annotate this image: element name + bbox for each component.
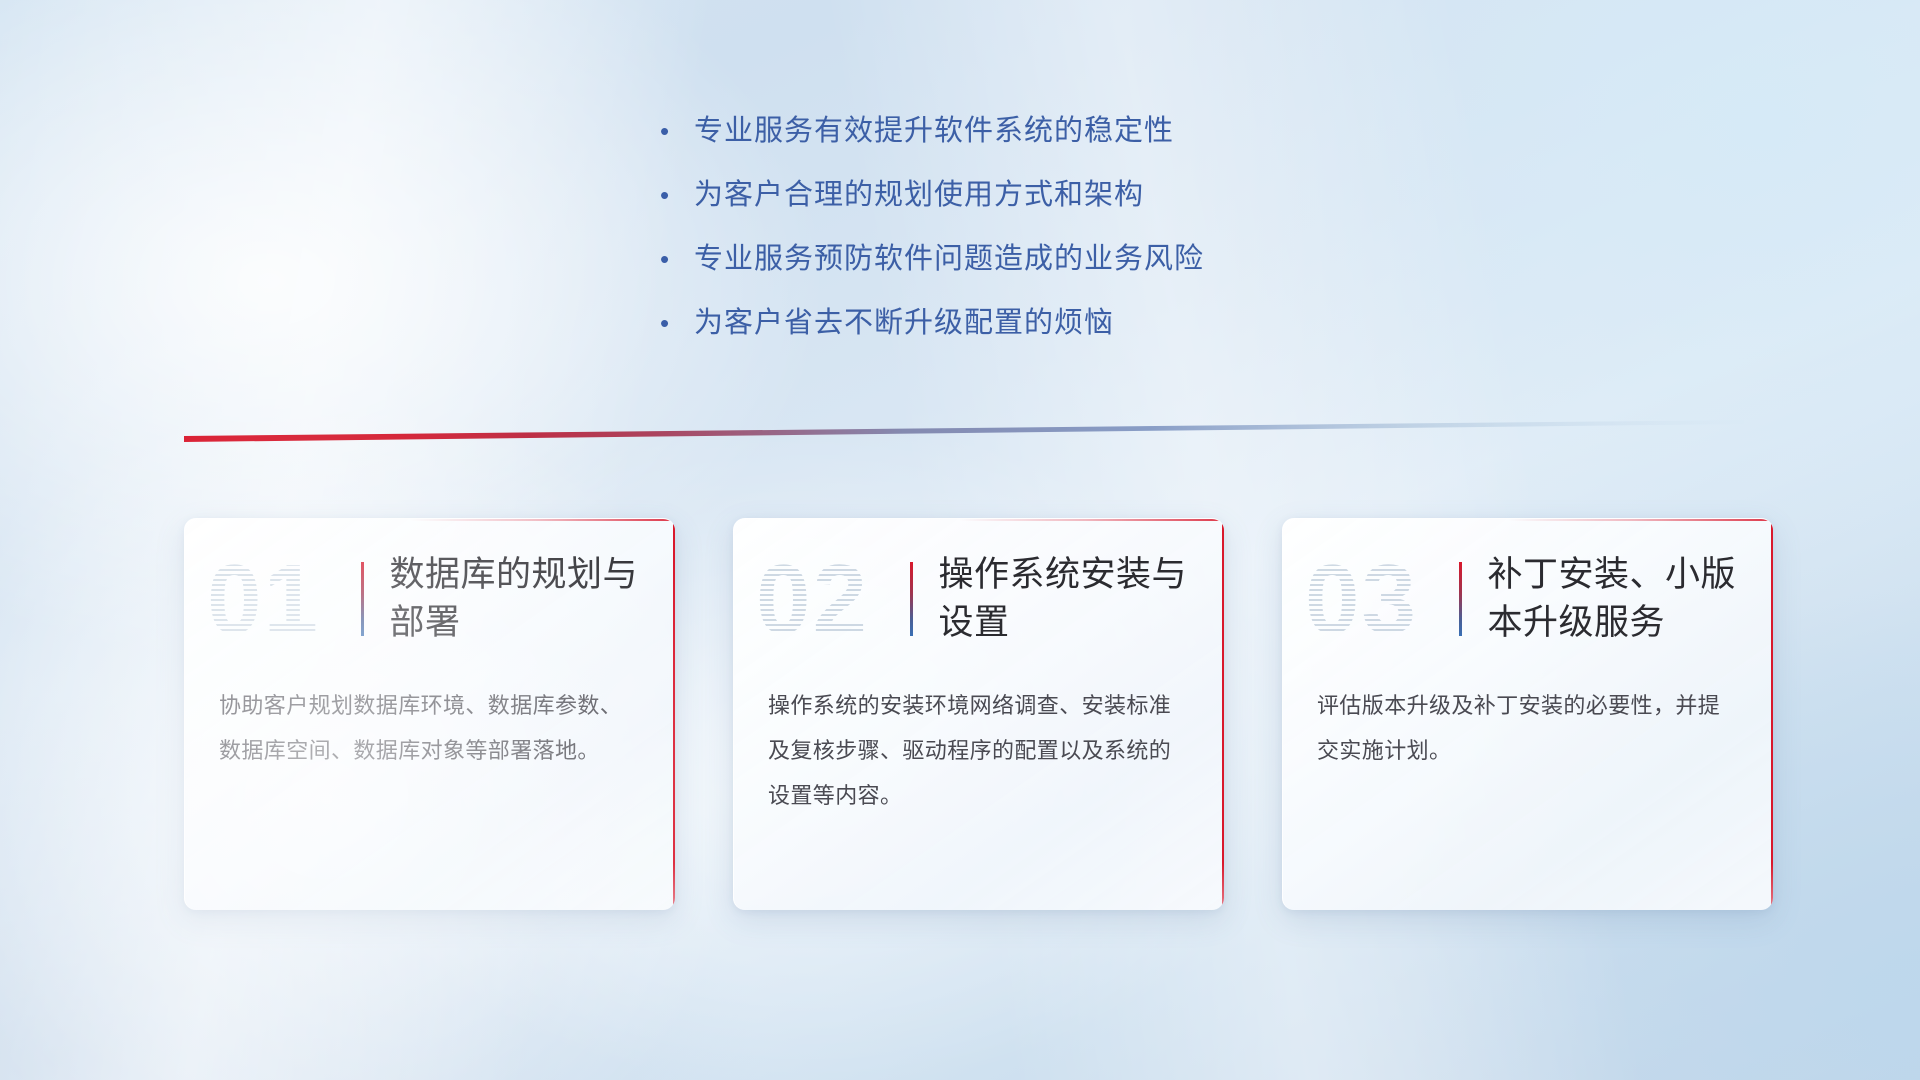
card-title-rule — [910, 562, 913, 636]
bullet-text: 专业服务有效提升软件系统的稳定性 — [694, 110, 1174, 152]
card-number-watermark: 01 — [207, 539, 357, 659]
card-body-text: 协助客户规划数据库环境、数据库参数、数据库空间、数据库对象等部署落地。 — [185, 683, 675, 773]
bullet-dot-icon: • — [660, 174, 694, 216]
bullet-dot-icon: • — [660, 302, 694, 344]
list-item: • 专业服务有效提升软件系统的稳定性 — [660, 110, 1420, 152]
service-card-03[interactable]: 03 补丁安装、小版本升级服务 评估版本升级及补丁安装的必要性，并提交实施计划。 — [1282, 518, 1773, 910]
service-cards-row: 01 数据库的规划与部署 协助客户规划数据库环境、数据库参数、数据库空间、数据库… — [184, 518, 1774, 910]
card-body-text: 操作系统的安装环境网络调查、安装标准及复核步骤、驱动程序的配置以及系统的设置等内… — [734, 683, 1224, 818]
list-item: • 为客户省去不断升级配置的烦恼 — [660, 302, 1420, 344]
bullet-text: 专业服务预防软件问题造成的业务风险 — [694, 238, 1204, 280]
card-title-rule — [361, 562, 364, 636]
card-number-watermark: 02 — [756, 539, 906, 659]
list-item: • 为客户合理的规划使用方式和架构 — [660, 174, 1420, 216]
card-title: 操作系统安装与设置 — [939, 551, 1199, 647]
card-title-rule — [1459, 562, 1462, 636]
list-item: • 专业服务预防软件问题造成的业务风险 — [660, 238, 1420, 280]
benefits-bullet-list: • 专业服务有效提升软件系统的稳定性 • 为客户合理的规划使用方式和架构 • 专… — [660, 110, 1420, 366]
card-body-text: 评估版本升级及补丁安装的必要性，并提交实施计划。 — [1283, 683, 1773, 773]
card-title: 补丁安装、小版本升级服务 — [1488, 551, 1748, 647]
divider-shape-icon — [184, 420, 1744, 442]
bullet-dot-icon: • — [660, 238, 694, 280]
bullet-dot-icon: • — [660, 110, 694, 152]
service-card-02[interactable]: 02 操作系统安装与设置 操作系统的安装环境网络调查、安装标准及复核步骤、驱动程… — [733, 518, 1224, 910]
card-title: 数据库的规划与部署 — [390, 551, 650, 647]
card-header: 03 补丁安装、小版本升级服务 — [1283, 519, 1773, 679]
service-card-01[interactable]: 01 数据库的规划与部署 协助客户规划数据库环境、数据库参数、数据库空间、数据库… — [184, 518, 675, 910]
slide-canvas: • 专业服务有效提升软件系统的稳定性 • 为客户合理的规划使用方式和架构 • 专… — [0, 0, 1920, 1080]
bullet-text: 为客户省去不断升级配置的烦恼 — [694, 302, 1114, 344]
card-number-watermark: 03 — [1305, 539, 1455, 659]
card-header: 02 操作系统安装与设置 — [734, 519, 1224, 679]
card-header: 01 数据库的规划与部署 — [185, 519, 675, 679]
section-divider — [184, 420, 1744, 442]
bullet-text: 为客户合理的规划使用方式和架构 — [694, 174, 1144, 216]
